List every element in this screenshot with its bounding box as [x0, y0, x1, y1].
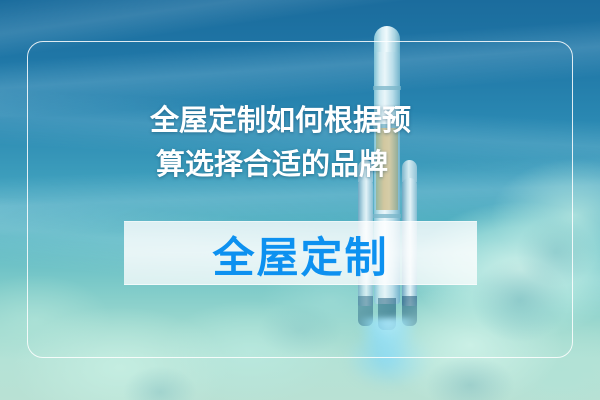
page-title: 全屋定制如何根据预 算选择合适的品牌: [150, 99, 450, 187]
keyword-band: 全屋定制: [124, 221, 477, 285]
page-title-line-1: 全屋定制如何根据预: [150, 99, 450, 143]
keyword-text: 全屋定制: [124, 222, 477, 286]
decorative-frame-border: [27, 41, 573, 358]
page-title-line-2: 算选择合适的品牌: [150, 143, 450, 187]
banner-image: 全屋定制如何根据预 算选择合适的品牌 全屋定制: [0, 0, 600, 400]
